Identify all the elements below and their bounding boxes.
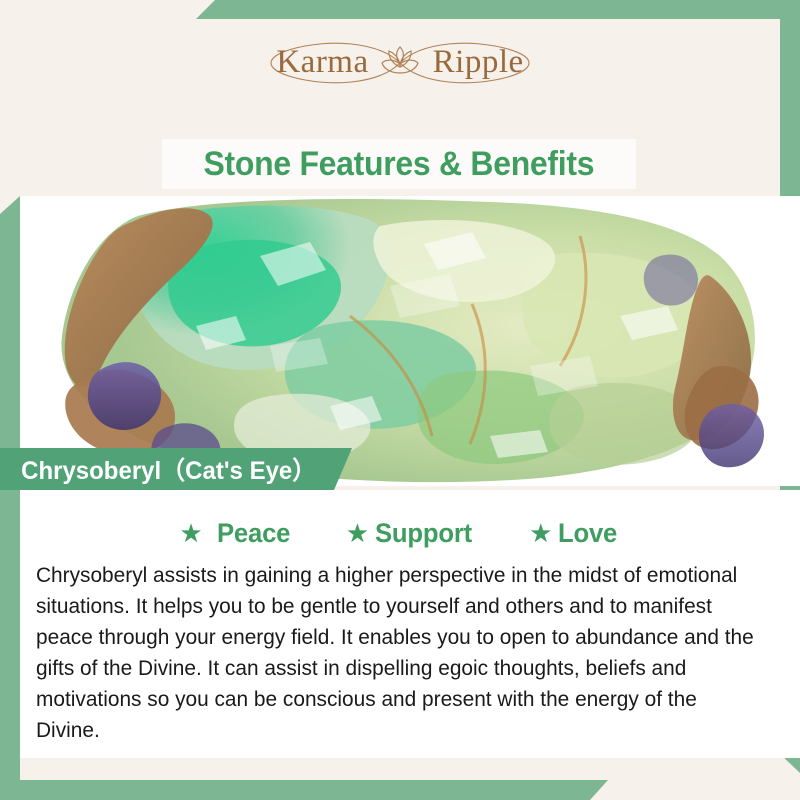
- keyword-peace: ★ Peace: [179, 518, 293, 549]
- keyword-row: ★ Peace ★ Support ★ Love: [20, 512, 780, 554]
- keyword-support: ★ Support: [346, 518, 477, 549]
- title-banner: Stone Features & Benefits: [162, 139, 636, 189]
- star-icon: ★: [346, 520, 369, 546]
- keyword-label: Support: [375, 518, 472, 549]
- stone-description: Chrysoberyl assists in gaining a higher …: [36, 560, 758, 746]
- keyword-love: ★ Love: [529, 518, 621, 549]
- stone-photo-image: [20, 196, 800, 486]
- brand-logo: Karma Ripple: [250, 31, 550, 95]
- infographic-page: Karma Ripple Stone Features & Benefits: [0, 0, 800, 800]
- brand-header: Karma Ripple: [0, 0, 800, 125]
- brand-wordmark: Karma Ripple: [276, 44, 523, 81]
- brand-name-right: Ripple: [433, 44, 524, 81]
- keyword-label: Love: [558, 518, 617, 549]
- brand-name-left: Karma: [276, 44, 368, 81]
- keyword-label: Peace: [217, 518, 290, 549]
- stone-name-banner: Chrysoberyl（Cat's Eye）: [0, 448, 352, 490]
- stone-name-label: Chrysoberyl（Cat's Eye）: [0, 451, 316, 487]
- frame-bottom-band: [0, 780, 800, 800]
- stone-photo: [20, 196, 800, 486]
- star-icon: ★: [529, 520, 552, 546]
- page-title: Stone Features & Benefits: [204, 145, 595, 184]
- star-icon: ★: [179, 520, 202, 546]
